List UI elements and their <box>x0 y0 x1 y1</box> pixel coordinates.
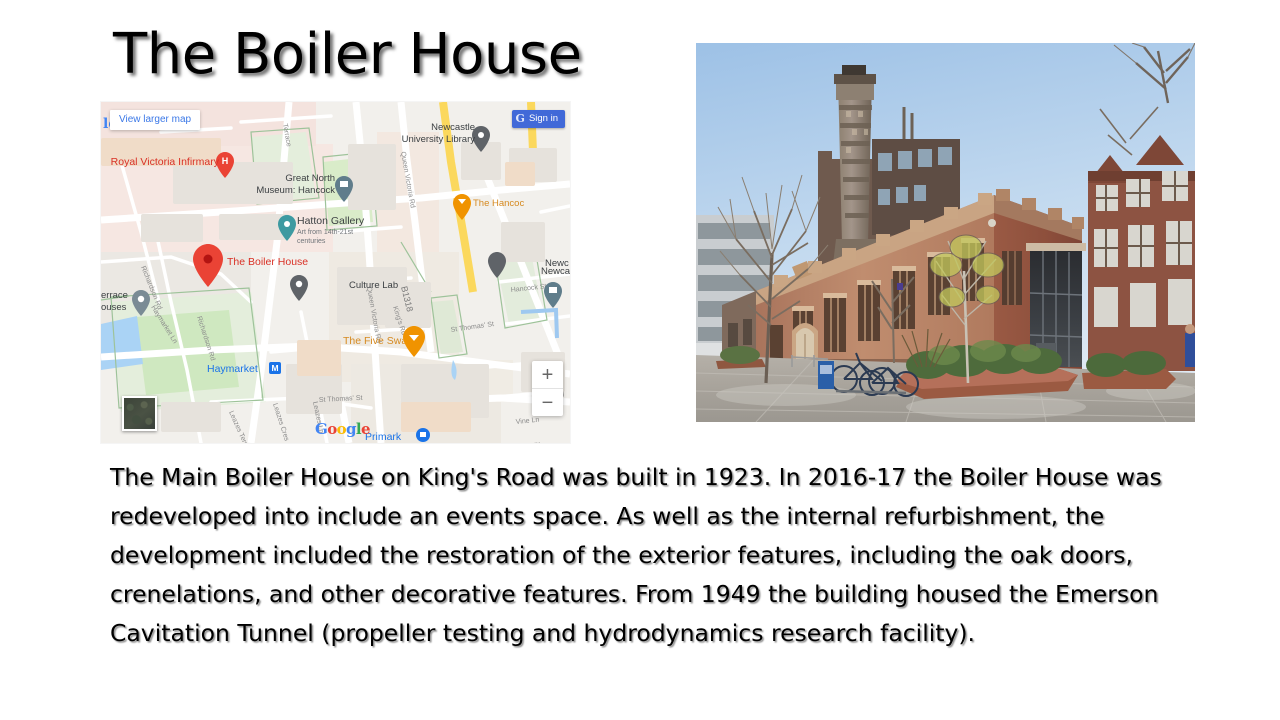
google-letter-o1: o <box>327 420 336 438</box>
body-paragraph: The Main Boiler House on King's Road was… <box>110 458 1172 653</box>
poi-terrace-houses: errace ouses <box>101 290 150 316</box>
svg-text:The Hancoc: The Hancoc <box>473 198 524 209</box>
svg-text:Culture Lab: Culture Lab <box>349 280 398 291</box>
svg-text:ouses: ouses <box>101 302 127 313</box>
poi-newcastle-museum-right: Newca <box>541 266 570 308</box>
poi-newcastle-right-2: Newc <box>545 258 569 269</box>
svg-text:Hatton Gallery: Hatton Gallery <box>297 215 365 227</box>
google-letter-e: e <box>361 420 370 438</box>
svg-text:Newc: Newc <box>545 258 569 269</box>
poi-great-north-museum-hancock: Great North Museum: Hancock <box>256 173 353 202</box>
poi-the-five-swans: The Five Swans <box>343 326 570 357</box>
poi-haymarket: Haymarket M <box>207 362 281 375</box>
map-overlay: le View larger map G Sign in .poi{font-f… <box>101 102 570 443</box>
svg-text:H: H <box>222 156 229 166</box>
google-letter-o2: o <box>337 420 346 438</box>
svg-text:Haymarket: Haymarket <box>207 363 258 375</box>
google-map-embed[interactable]: .rd{stroke:#ffffff;fill:none;stroke-line… <box>101 102 570 443</box>
svg-text:Primark: Primark <box>365 431 402 443</box>
svg-text:M: M <box>271 363 278 373</box>
slide: The Boiler House .rd{stroke:#ffffff;fill… <box>0 0 1280 720</box>
zoom-out-button[interactable]: − <box>532 389 563 416</box>
svg-text:University Library: University Library <box>402 134 476 145</box>
map-poi-layer: .poi{font-family:"Liberation Sans",sans-… <box>101 102 570 443</box>
boiler-house-photo-image <box>696 43 1195 422</box>
google-letter-g: G <box>315 420 327 438</box>
boiler-house-photo <box>696 43 1195 422</box>
information-sign <box>818 361 834 389</box>
svg-text:errace: errace <box>101 290 128 301</box>
poi-culture-lab: Culture Lab <box>290 252 506 301</box>
svg-text:centuries: centuries <box>297 238 326 245</box>
poi-newcastle-university-library: Newcastle University Library <box>402 122 490 152</box>
poi-royal-victoria-infirmary: H Royal Victoria Infirmary <box>111 152 234 178</box>
map-zoom-controls[interactable]: + − <box>532 361 563 416</box>
satellite-thumbnail-button[interactable] <box>122 396 157 431</box>
svg-text:Art from 14th-21st: Art from 14th-21st <box>297 229 353 236</box>
svg-text:Great North: Great North <box>285 173 335 184</box>
poi-primark: Primark <box>365 428 430 443</box>
page-title: The Boiler House <box>113 22 582 87</box>
zoom-in-button[interactable]: + <box>532 361 563 388</box>
svg-text:Royal Victoria Infirmary: Royal Victoria Infirmary <box>111 156 220 168</box>
poi-hatton-gallery: Hatton Gallery Art from 14th-21st centur… <box>278 215 365 245</box>
svg-text:Museum: Hancock: Museum: Hancock <box>256 185 335 196</box>
google-logo-watermark: Google <box>315 422 370 437</box>
poi-the-hancock: The Hancoc <box>453 194 524 220</box>
person <box>1185 324 1195 367</box>
google-letter-g2: g <box>346 420 356 438</box>
svg-text:The Boiler House: The Boiler House <box>227 256 308 268</box>
svg-text:Newcastle: Newcastle <box>431 122 475 133</box>
